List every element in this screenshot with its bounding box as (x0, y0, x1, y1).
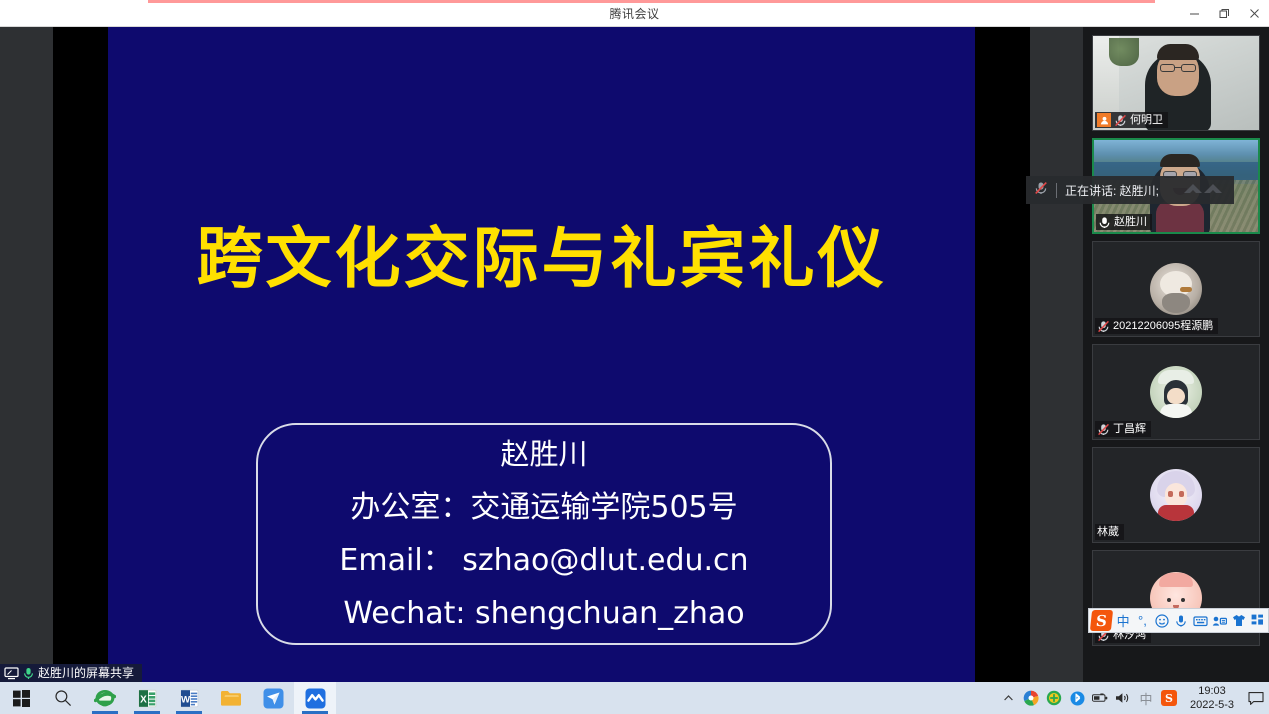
skin-icon[interactable] (1231, 611, 1247, 631)
sogou-tray-icon[interactable]: S (1161, 690, 1177, 706)
participant-tile[interactable]: 丁昌辉 (1092, 344, 1260, 440)
search-button[interactable] (42, 682, 84, 714)
volume-icon[interactable] (1115, 690, 1131, 706)
microphone-muted-icon (1034, 181, 1048, 200)
shared-screen-stage: 跨文化交际与礼宾礼仪 赵胜川 办公室：交通运输学院505号 Email： szh… (0, 27, 1083, 682)
participant-nameplate: 林葳 (1095, 524, 1124, 540)
monitor-icon (4, 667, 19, 680)
presenter-email: Email： szhao@dlut.edu.cn (339, 536, 748, 585)
microphone-muted-icon (1097, 320, 1110, 333)
participant-tile[interactable]: 何明卫 (1092, 35, 1260, 131)
window-controls (1179, 0, 1269, 27)
tencent-meeting-button[interactable] (294, 682, 336, 714)
taskbar-spacer (336, 682, 1000, 714)
show-hidden-icons-button[interactable] (1000, 690, 1016, 706)
screen-share-label: 赵胜川的屏幕共享 (38, 664, 134, 682)
meeting-body: 跨文化交际与礼宾礼仪 赵胜川 办公室：交通运输学院505号 Email： szh… (0, 27, 1269, 682)
slide-title: 跨文化交际与礼宾礼仪 (108, 223, 975, 296)
participant-nameplate: 20212206095程源鹏 (1095, 318, 1218, 334)
shared-slide: 跨文化交际与礼宾礼仪 赵胜川 办公室：交通运输学院505号 Email： szh… (108, 27, 975, 682)
participant-nameplate: 赵胜川 (1096, 214, 1152, 230)
sogou-ime-toolbar[interactable]: S 中 °, (1088, 608, 1269, 633)
avatar (1150, 469, 1202, 521)
clock-time: 19:03 (1198, 684, 1226, 698)
avatar (1150, 366, 1202, 418)
avatar (1150, 263, 1202, 315)
word-button[interactable]: W (168, 682, 210, 714)
battery-icon[interactable] (1092, 690, 1108, 706)
title-bar: 腾讯会议 (0, 0, 1269, 27)
presenter-name: 赵胜川 (500, 430, 587, 479)
svg-text:W: W (180, 694, 190, 705)
presenter-info-box: 赵胜川 办公室：交通运输学院505号 Email： szhao@dlut.edu… (256, 423, 832, 645)
internet-explorer-button[interactable] (84, 682, 126, 714)
excel-button[interactable]: X (126, 682, 168, 714)
updater-icon[interactable] (1046, 690, 1062, 706)
screen-share-status: 赵胜川的屏幕共享 (0, 664, 142, 682)
punctuation-toggle[interactable]: °, (1134, 611, 1150, 631)
microphone-muted-icon (1097, 423, 1110, 436)
soft-keyboard-icon[interactable] (1192, 611, 1208, 631)
file-explorer-button[interactable] (210, 682, 252, 714)
emoji-icon[interactable] (1154, 611, 1170, 631)
sogou-logo-icon[interactable]: S (1090, 610, 1113, 631)
toolbox-icon[interactable] (1211, 611, 1227, 631)
participant-nameplate: 何明卫 (1095, 112, 1168, 128)
restore-button[interactable] (1209, 0, 1239, 27)
tencent-meeting-window: 腾讯会议 跨文化交际与礼宾礼仪 (0, 0, 1269, 714)
participant-name: 20212206095程源鹏 (1113, 318, 1213, 334)
microphone-icon (23, 667, 34, 680)
minimize-button[interactable] (1179, 0, 1209, 27)
speaking-toast: 正在讲话: 赵胜川; (1026, 176, 1234, 204)
chinese-mode-toggle[interactable]: 中 (1115, 611, 1131, 631)
voice-input-icon[interactable] (1173, 611, 1189, 631)
participant-name: 丁昌辉 (1113, 421, 1146, 437)
taskbar-clock[interactable]: 19:03 2022-5-3 (1181, 682, 1243, 714)
toast-divider (1056, 183, 1057, 198)
taskbar-apps: X W (0, 682, 336, 714)
participant-tile[interactable]: 林葳 (1092, 447, 1260, 543)
windows-taskbar: X W (0, 682, 1269, 714)
system-tray: 中 S (1000, 682, 1181, 714)
participant-tile[interactable]: 20212206095程源鹏 (1092, 241, 1260, 337)
bluetooth-icon[interactable] (1069, 690, 1085, 706)
antivirus-icon[interactable] (1023, 690, 1039, 706)
bird-app-button[interactable] (252, 682, 294, 714)
presenter-wechat: Wechat: shengchuan_zhao (343, 589, 744, 638)
participant-name: 赵胜川 (1114, 214, 1147, 230)
participant-nameplate: 丁昌辉 (1095, 421, 1151, 437)
participant-name: 林葳 (1097, 524, 1119, 540)
close-button[interactable] (1239, 0, 1269, 27)
more-apps-icon[interactable] (1250, 611, 1266, 631)
clock-date: 2022-5-3 (1190, 698, 1234, 712)
start-button[interactable] (0, 682, 42, 714)
speaking-label: 正在讲话: 赵胜川; (1065, 182, 1159, 199)
presenter-office: 办公室：交通运输学院505号 (350, 483, 737, 532)
double-chevron-icon[interactable] (1182, 181, 1226, 199)
window-accent-line (148, 0, 1155, 3)
microphone-icon (1098, 216, 1111, 229)
participants-sidebar[interactable]: 何明卫 (1083, 27, 1269, 682)
microphone-muted-icon (1114, 114, 1127, 127)
action-center-button[interactable] (1243, 682, 1269, 714)
host-person-icon (1097, 113, 1111, 127)
svg-text:X: X (140, 694, 147, 705)
ime-indicator[interactable]: 中 (1138, 690, 1154, 706)
participant-name: 何明卫 (1130, 112, 1163, 128)
window-title: 腾讯会议 (609, 5, 659, 22)
